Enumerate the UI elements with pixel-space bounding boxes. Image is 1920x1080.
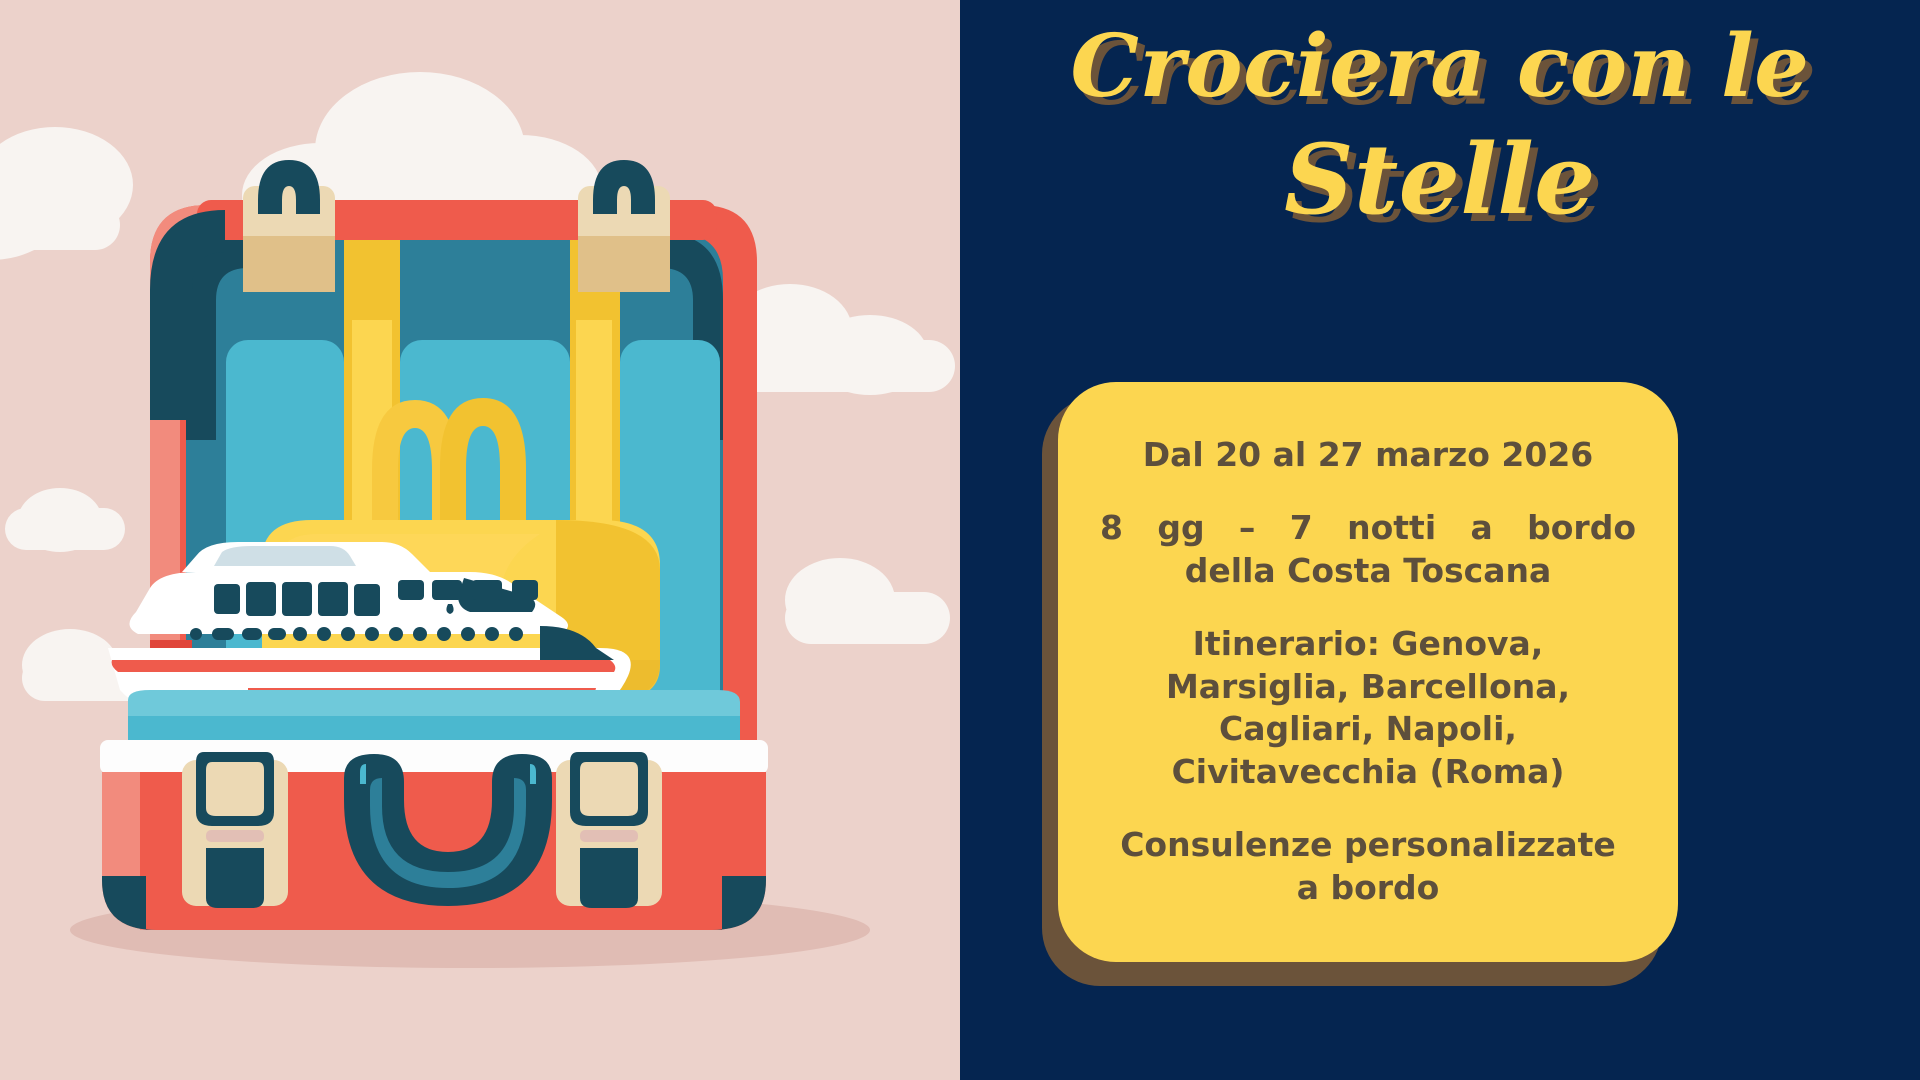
cruise-duration-line-1: 8 gg – 7 notti a bordo bbox=[1100, 507, 1636, 550]
cruise-service: Consulenze personalizzate a bordo bbox=[1100, 824, 1636, 910]
cruise-duration-line-2: della Costa Toscana bbox=[1100, 550, 1636, 593]
service-line-2: a bordo bbox=[1100, 867, 1636, 910]
info-card: Dal 20 al 27 marzo 2026 8 gg – 7 notti a… bbox=[1058, 382, 1678, 962]
itinerary-line-3: Cagliari, Napoli, bbox=[1100, 708, 1636, 751]
itinerary-line-2: Marsiglia, Barcellona, bbox=[1100, 666, 1636, 709]
cruise-duration: 8 gg – 7 notti a bordo della Costa Tosca… bbox=[1100, 507, 1636, 593]
title-line-2: Stelle bbox=[960, 132, 1920, 228]
suitcase-base bbox=[100, 690, 768, 930]
itinerary-line-1: Itinerario: Genova, bbox=[1100, 623, 1636, 666]
title-line-1: Crociera con le bbox=[960, 24, 1920, 110]
itinerary-line-4: Civitavecchia (Roma) bbox=[1100, 751, 1636, 794]
cloud-icon bbox=[0, 127, 133, 260]
cruise-dates: Dal 20 al 27 marzo 2026 bbox=[1100, 434, 1636, 477]
suitcase-latch-left bbox=[182, 752, 288, 908]
content-panel: Crociera con le Stelle Dal 20 al 27 marz… bbox=[960, 0, 1920, 1080]
illustration-panel bbox=[0, 0, 960, 1080]
suitcase-latch-right bbox=[556, 752, 662, 908]
cruise-itinerary: Itinerario: Genova, Marsiglia, Barcellon… bbox=[1100, 623, 1636, 795]
service-line-1: Consulenze personalizzate bbox=[1100, 824, 1636, 867]
poster-title: Crociera con le Stelle bbox=[960, 24, 1920, 228]
poster: Crociera con le Stelle Dal 20 al 27 marz… bbox=[0, 0, 1920, 1080]
